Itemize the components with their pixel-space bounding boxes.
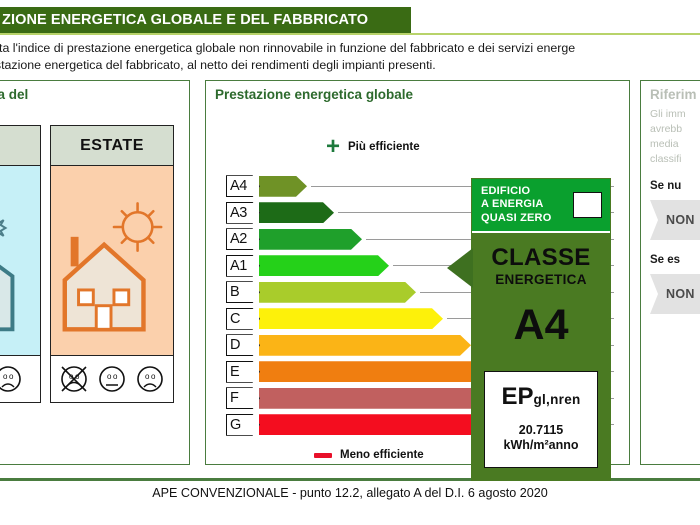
svg-text:o: o [107,372,112,381]
crossed-smiley-icon: o o [59,364,89,394]
energy-class-tag-label: A3 [230,205,247,221]
ep-label: EP [501,383,533,410]
energy-class-tag: D [226,334,260,356]
energy-class-tag-label: A4 [230,178,247,194]
most-efficient-label: Più efficiente [348,141,420,153]
energy-class-bar [259,308,443,329]
snowflake-house-icon [0,166,40,353]
reference-line-2: avrebb [650,121,700,136]
season-box-summer: ESTATE [50,125,174,403]
building-panel-heading-line2: o [0,102,180,117]
energy-class-bar [259,282,416,303]
reference-panel-heading: Riferim [641,81,700,102]
nzeb-line-2: A ENERGIA [481,198,551,212]
energy-class-tag: A1 [226,255,260,277]
energy-class-tag-label: F [230,390,238,406]
ep-label-row: EPgl,nren [489,384,593,413]
energy-class-tag: E [226,361,260,383]
class-body: CLASSE ENERGETICA A4 [472,233,610,365]
intro-paragraph: orta l'indice di prestazione energetica … [0,40,700,74]
intro-line-1: orta l'indice di prestazione energetica … [0,40,700,57]
class-word: CLASSE [472,245,610,271]
reference-chip-1: NON [650,200,700,240]
energy-class-bar [259,176,307,197]
energy-class-tag: B [226,281,260,303]
footer-caption: APE CONVENZIONALE - punto 12.2, allegato… [0,486,700,500]
energy-class-bar [259,229,362,250]
ep-index-box: EPgl,nren 20.7115 kWh/m²anno [484,371,598,468]
reference-body: Gli imm avrebb media classifi Se nu NON … [641,102,700,314]
winter-illustration [0,166,40,356]
energy-class-tag-label: E [230,364,239,380]
energy-class-bar [259,202,334,223]
energy-class-tag: G [226,414,260,436]
minus-icon [314,453,332,458]
global-panel-heading: Prestazione energetica globale [206,81,629,102]
svg-text:o: o [113,372,118,381]
reference-question-1: Se nu [650,180,700,192]
season-label-winter: RNO [0,126,40,166]
reference-chip-2: NON [650,274,700,314]
energy-class-tag: C [226,308,260,330]
energy-class-bar [259,255,389,276]
reference-line-1: Gli imm [650,106,700,121]
class-word-secondary: ENERGETICA [472,272,610,287]
energy-class-tag: A2 [226,228,260,250]
svg-text:o: o [151,372,156,381]
ep-subscript: gl,nren [533,392,580,407]
energy-class-bar [259,335,471,356]
panels-row: ne energetica del o RNO [0,80,700,470]
energy-class-tag-label: A1 [230,258,247,274]
ep-value: 20.7115 [489,423,593,438]
energy-class-tag-label: G [230,417,241,433]
energy-class-tag-label: B [230,284,239,300]
least-efficient-label: Meno efficiente [340,449,424,461]
summer-illustration [51,166,173,356]
season-boxes: RNO [0,125,174,403]
season-label-summer: ESTATE [51,126,173,166]
svg-text:o: o [9,372,14,381]
energy-class-bar [259,361,499,382]
plus-icon: + [326,138,340,156]
nzeb-banner: EDIFICIO A ENERGIA QUASI ZERO [472,179,610,233]
building-panel-heading-line1: ne energetica del [0,87,180,102]
winter-face-icons: o o o o [0,356,40,402]
nzeb-line-3: QUASI ZERO [481,212,551,226]
sun-house-icon [51,166,173,353]
building-panel-heading: ne energetica del o [0,81,189,117]
energy-class-tag-label: D [230,337,240,353]
svg-text:o: o [3,372,8,381]
sad-face-icon: o o [0,364,23,394]
reference-line-4: classifi [650,151,700,166]
energy-class-tag: A4 [226,175,260,197]
intro-line-2: estazione energetica del fabbricato, al … [0,57,700,74]
nzeb-line-1: EDIFICIO [481,185,551,199]
summer-face-icons: o o o o [51,356,173,402]
energy-class-result-box: EDIFICIO A ENERGIA QUASI ZERO CLASSE ENE… [471,178,611,481]
sad-face-icon: o o [135,364,165,394]
building-performance-panel: ne energetica del o RNO [0,80,190,465]
ep-unit: kWh/m²anno [489,438,593,453]
energy-class-tag-label: A2 [230,231,247,247]
most-efficient-legend: + Più efficiente [326,138,420,156]
energy-class-tag-label: C [230,311,240,327]
season-box-winter: RNO [0,125,41,403]
nzeb-checkbox[interactable] [573,192,602,218]
reference-panel: Riferim Gli imm avrebb media classifi Se… [640,80,700,465]
neutral-face-icon: o o [97,364,127,394]
energy-class-tag: A3 [226,202,260,224]
energy-class-tag: F [226,387,260,409]
nzeb-label: EDIFICIO A ENERGIA QUASI ZERO [481,185,551,226]
class-letter-value: A4 [472,297,610,353]
reference-question-2: Se es [650,254,700,266]
page-title: ZIONE ENERGETICA GLOBALE E DEL FABBRICAT… [2,12,368,28]
page-title-bar: ZIONE ENERGETICA GLOBALE E DEL FABBRICAT… [0,7,411,33]
svg-text:o: o [145,372,150,381]
least-efficient-legend: Meno efficiente [314,449,424,461]
reference-line-3: media [650,136,700,151]
title-divider [0,33,700,35]
